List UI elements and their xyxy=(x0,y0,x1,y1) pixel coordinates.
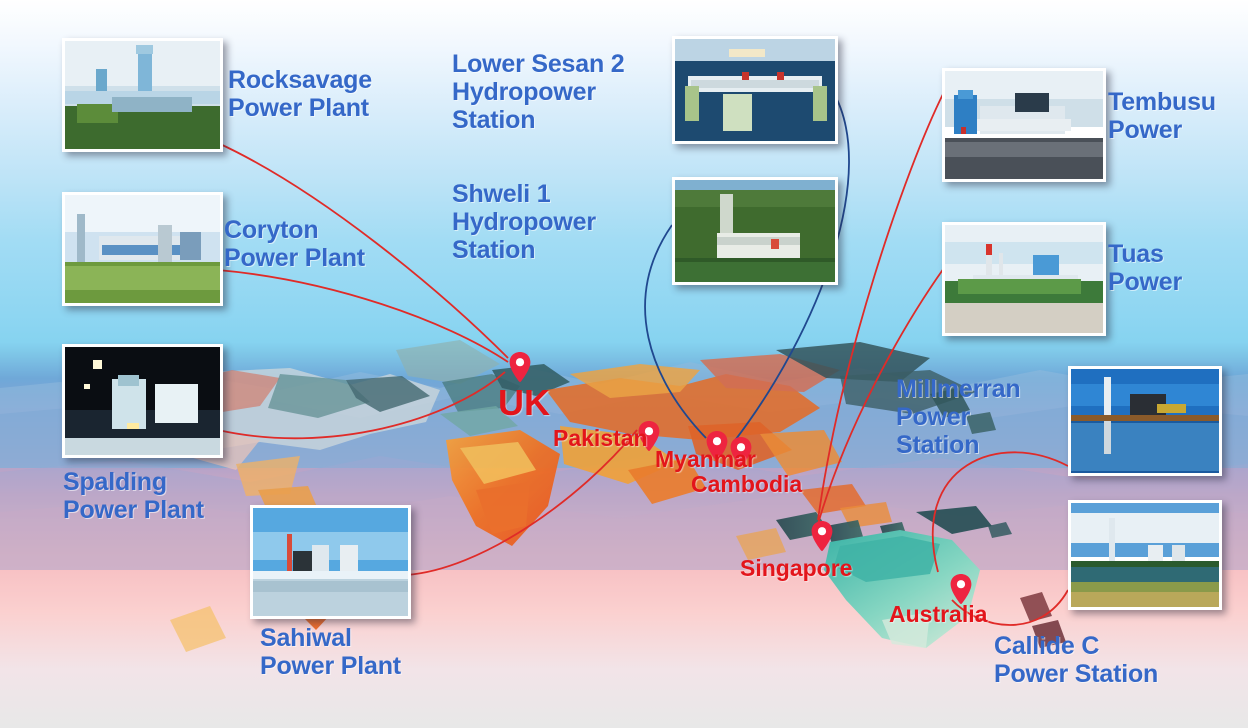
plant-label-tuas-line-1: Tuas xyxy=(1108,240,1182,268)
photo-shweli[interactable] xyxy=(672,177,838,285)
plant-label-tuas: TuasPower xyxy=(1108,240,1182,296)
country-label-australia: Australia xyxy=(889,603,987,626)
plant-label-lower-sesan-2-line-2: Hydropower xyxy=(452,78,624,106)
infographic-map-canvas: RocksavagePower PlantCorytonPower PlantS… xyxy=(0,0,1248,728)
photo-sahiwal[interactable] xyxy=(250,505,411,619)
country-label-uk: UK xyxy=(498,385,550,421)
plant-label-rocksavage: RocksavagePower Plant xyxy=(228,66,372,122)
plant-label-shweli-1: Shweli 1HydropowerStation xyxy=(452,180,596,264)
country-label-cambodia: Cambodia xyxy=(691,473,802,496)
plant-label-millmerran-line-1: Millmerran xyxy=(896,375,1020,403)
photo-spalding[interactable] xyxy=(62,344,223,458)
link-spalding-uk xyxy=(218,372,505,438)
photo-sahiwal-image xyxy=(253,508,408,616)
photo-spalding-image xyxy=(65,347,220,455)
plant-label-coryton-line-1: Coryton xyxy=(224,216,365,244)
photo-shweli-image xyxy=(675,180,835,282)
plant-label-millmerran-line-3: Station xyxy=(896,431,1020,459)
pin-australia[interactable] xyxy=(950,574,972,604)
photo-tembusu[interactable] xyxy=(942,68,1106,182)
country-label-myanmar: Myanmar xyxy=(655,448,756,471)
plant-label-spalding-line-1: Spalding xyxy=(63,468,204,496)
country-label-pakistan: Pakistan xyxy=(553,427,648,450)
plant-label-rocksavage-line-2: Power Plant xyxy=(228,94,372,122)
photo-lower-sesan-image xyxy=(675,39,835,141)
pin-singapore[interactable] xyxy=(811,521,833,551)
photo-rocksavage[interactable] xyxy=(62,38,223,152)
plant-label-tembusu-line-2: Power xyxy=(1108,116,1216,144)
plant-label-tuas-line-2: Power xyxy=(1108,268,1182,296)
plant-label-coryton: CorytonPower Plant xyxy=(224,216,365,272)
photo-millmerran[interactable] xyxy=(1068,366,1222,476)
plant-label-rocksavage-line-1: Rocksavage xyxy=(228,66,372,94)
plant-label-tembusu-line-1: Tembusu xyxy=(1108,88,1216,116)
plant-label-coryton-line-2: Power Plant xyxy=(224,244,365,272)
photo-callide[interactable] xyxy=(1068,500,1222,610)
country-label-singapore: Singapore xyxy=(740,557,852,580)
plant-label-spalding: SpaldingPower Plant xyxy=(63,468,204,524)
link-millmerran-au xyxy=(933,452,1068,572)
photo-coryton[interactable] xyxy=(62,192,223,306)
photo-millmerran-image xyxy=(1071,369,1219,473)
plant-label-callide-c: Callide CPower Station xyxy=(994,632,1158,688)
photo-callide-image xyxy=(1071,503,1219,607)
plant-label-lower-sesan-2-line-1: Lower Sesan 2 xyxy=(452,50,624,78)
plant-label-callide-c-line-2: Power Station xyxy=(994,660,1158,688)
link-sahiwal-pak xyxy=(406,430,637,575)
plant-label-sahiwal-line-1: Sahiwal xyxy=(260,624,401,652)
photo-tembusu-image xyxy=(945,71,1103,179)
photo-lower-sesan[interactable] xyxy=(672,36,838,144)
plant-label-spalding-line-2: Power Plant xyxy=(63,496,204,524)
photo-tuas-image xyxy=(945,225,1103,333)
plant-label-sahiwal: SahiwalPower Plant xyxy=(260,624,401,680)
plant-label-shweli-1-line-1: Shweli 1 xyxy=(452,180,596,208)
plant-label-shweli-1-line-3: Station xyxy=(452,236,596,264)
plant-label-millmerran-line-2: Power xyxy=(896,403,1020,431)
plant-label-shweli-1-line-2: Hydropower xyxy=(452,208,596,236)
plant-label-lower-sesan-2-line-3: Station xyxy=(452,106,624,134)
plant-label-millmerran: MillmerranPowerStation xyxy=(896,375,1020,459)
photo-coryton-image xyxy=(65,195,220,303)
photo-tuas[interactable] xyxy=(942,222,1106,336)
photo-rocksavage-image xyxy=(65,41,220,149)
plant-label-sahiwal-line-2: Power Plant xyxy=(260,652,401,680)
plant-label-tembusu: TembusuPower xyxy=(1108,88,1216,144)
plant-label-callide-c-line-1: Callide C xyxy=(994,632,1158,660)
plant-label-lower-sesan-2: Lower Sesan 2HydropowerStation xyxy=(452,50,624,134)
pin-uk[interactable] xyxy=(509,352,531,382)
